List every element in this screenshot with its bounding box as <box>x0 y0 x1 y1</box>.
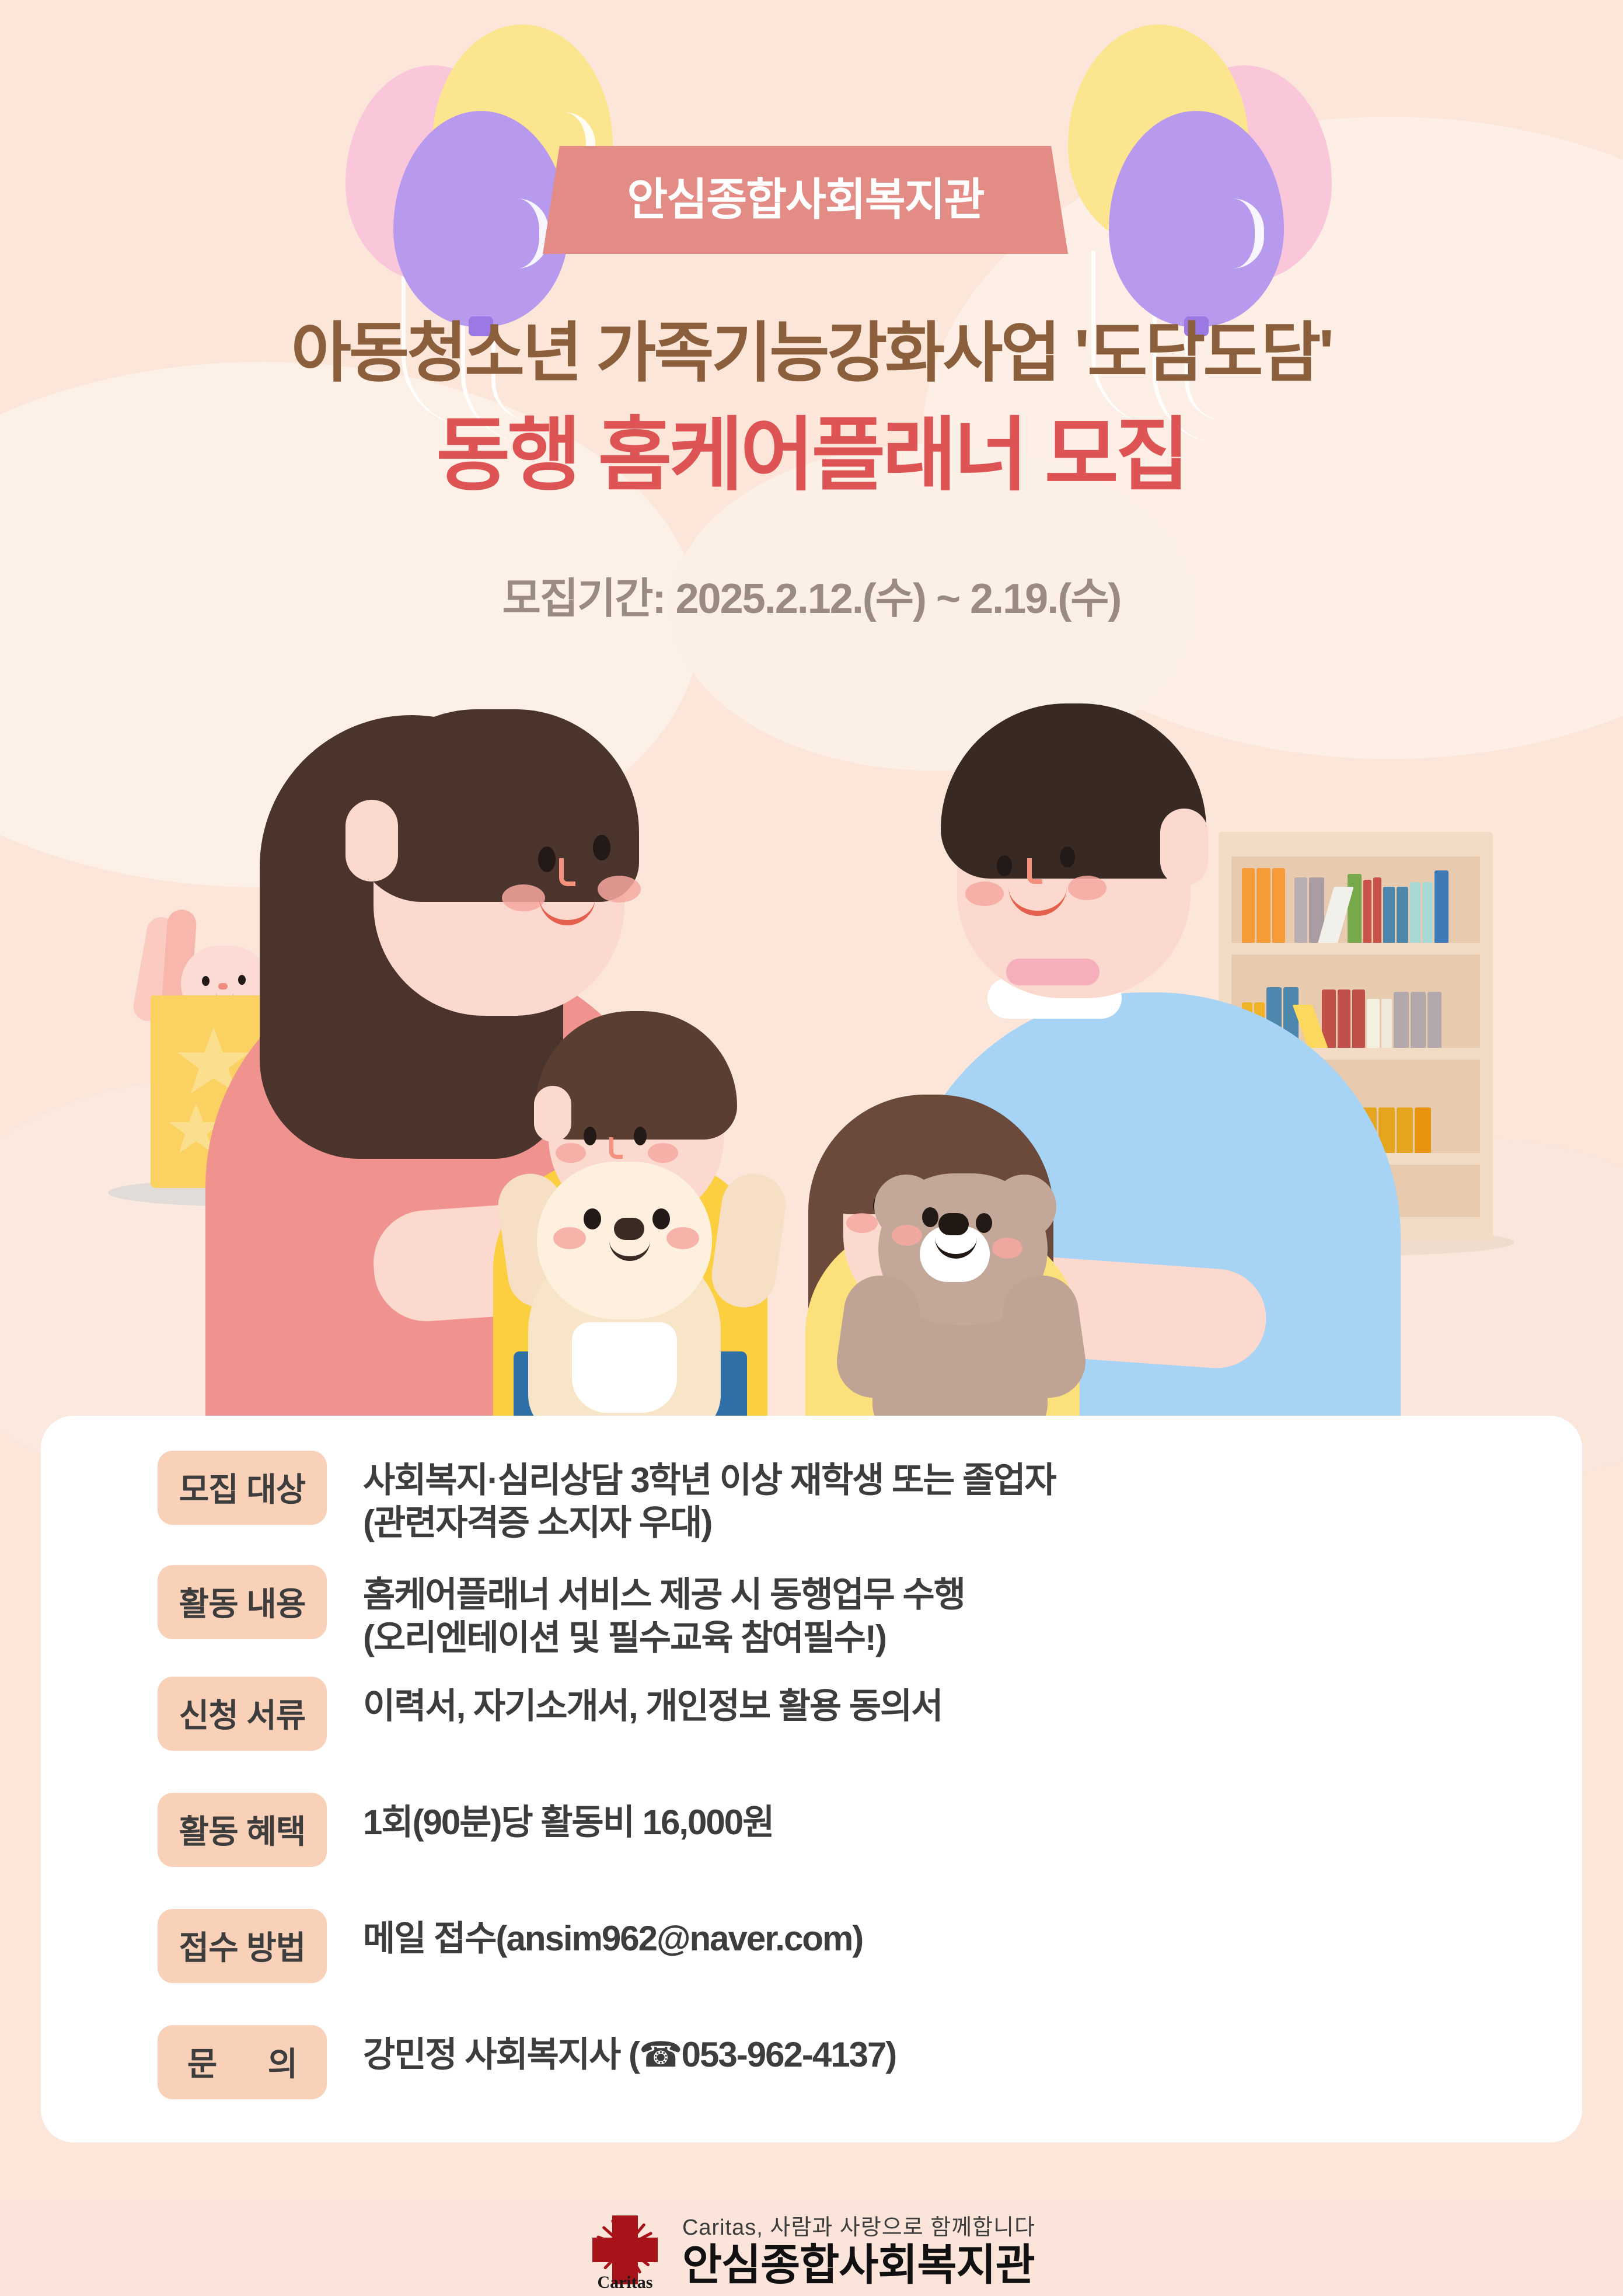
org-banner-label: 안심종합사회복지관 <box>627 178 983 222</box>
info-value-application-method: 메일 접수(ansim962@naver.com) <box>363 1909 863 1960</box>
info-row-recruit-target: 모집 대상 사회복지·심리상담 3학년 이상 재학생 또는 졸업자 (관련자격증… <box>41 1451 1582 1544</box>
info-value-activity-content: 홈케어플래너 서비스 제공 시 동행업무 수행 (오리엔테이션 및 필수교육 참… <box>363 1565 965 1659</box>
footer-org-name: 안심종합사회복지관 <box>682 2243 1035 2287</box>
info-row-activity-content: 활동 내용 홈케어플래너 서비스 제공 시 동행업무 수행 (오리엔테이션 및 … <box>41 1565 1582 1659</box>
info-value-activity-benefit: 1회(90분)당 활동비 16,000원 <box>363 1793 773 1844</box>
footer-bar: Caritas Caritas, 사람과 사랑으로 함께합니다 안심종합사회복지… <box>0 2200 1623 2296</box>
title-line-2: 동행 홈케어플래너 모집 <box>0 413 1623 498</box>
caritas-wordmark: Caritas <box>588 2273 662 2292</box>
info-value-recruit-target: 사회복지·심리상담 3학년 이상 재학생 또는 졸업자 (관련자격증 소지자 우… <box>363 1451 1056 1544</box>
boy-ear <box>534 1086 571 1142</box>
org-banner: 안심종합사회복지관 <box>543 146 1068 254</box>
info-value-line-2: (관련자격증 소지자 우대) <box>363 1501 1056 1544</box>
recruitment-period: 모집기간: 2025.2.12.(수) ~ 2.19.(수) <box>0 578 1623 620</box>
mother-ear <box>345 800 398 882</box>
info-value-line-1: 이력서, 자기소개서, 개인정보 활용 동의서 <box>363 1685 942 1727</box>
info-row-activity-benefit: 활동 혜택 1회(90분)당 활동비 16,000원 <box>41 1793 1582 1867</box>
footer-logo-group: Caritas Caritas, 사람과 사랑으로 함께합니다 안심종합사회복지… <box>588 2207 1035 2289</box>
info-value-application-docs: 이력서, 자기소개서, 개인정보 활용 동의서 <box>363 1677 942 1727</box>
info-label-inquiry: 문 의 <box>158 2025 327 2099</box>
info-row-application-docs: 신청 서류 이력서, 자기소개서, 개인정보 활용 동의서 <box>41 1677 1582 1751</box>
footer-tagline: Caritas, 사람과 사랑으로 함께합니다 <box>682 2209 1035 2241</box>
family-illustration <box>0 660 1623 1413</box>
info-label-activity-benefit: 활동 혜택 <box>158 1793 327 1867</box>
info-label-recruit-target: 모집 대상 <box>158 1451 327 1525</box>
info-row-application-method: 접수 방법 메일 접수(ansim962@naver.com) <box>41 1909 1582 1983</box>
bookshelf-books-row <box>1242 866 1450 943</box>
poster-root: 안심종합사회복지관 아동청소년 가족기능강화사업 '도담도담' 동행 홈케어플래… <box>0 0 1623 2296</box>
info-row-inquiry: 문 의 강민정 사회복지사 (☎053-962-4137) <box>41 2025 1582 2099</box>
father-ear <box>1160 809 1208 886</box>
dog-plush-diaper <box>572 1322 677 1413</box>
info-value-line-1: 1회(90분)당 활동비 16,000원 <box>363 1801 773 1844</box>
info-value-inquiry: 강민정 사회복지사 (☎053-962-4137) <box>363 2025 896 2076</box>
info-card: 모집 대상 사회복지·심리상담 3학년 이상 재학생 또는 졸업자 (관련자격증… <box>41 1416 1582 2142</box>
info-label-application-docs: 신청 서류 <box>158 1677 327 1751</box>
info-value-line-1: 메일 접수(ansim962@naver.com) <box>363 1917 863 1960</box>
info-label-activity-content: 활동 내용 <box>158 1565 327 1639</box>
footer-texts: Caritas, 사람과 사랑으로 함께합니다 안심종합사회복지관 <box>682 2209 1035 2287</box>
info-label-application-method: 접수 방법 <box>158 1909 327 1983</box>
info-value-line-1: 사회복지·심리상담 3학년 이상 재학생 또는 졸업자 <box>363 1459 1056 1501</box>
info-value-line-1: 홈케어플래너 서비스 제공 시 동행업무 수행 <box>363 1573 965 1616</box>
info-rows: 모집 대상 사회복지·심리상담 3학년 이상 재학생 또는 졸업자 (관련자격증… <box>41 1416 1582 2142</box>
caritas-cross-icon: Caritas <box>588 2207 662 2289</box>
info-value-line-2: (오리엔테이션 및 필수교육 참여필수!) <box>363 1616 965 1659</box>
info-value-line-1: 강민정 사회복지사 (☎053-962-4137) <box>363 2033 896 2076</box>
title-line-1: 아동청소년 가족기능강화사업 '도담도담' <box>0 319 1623 388</box>
